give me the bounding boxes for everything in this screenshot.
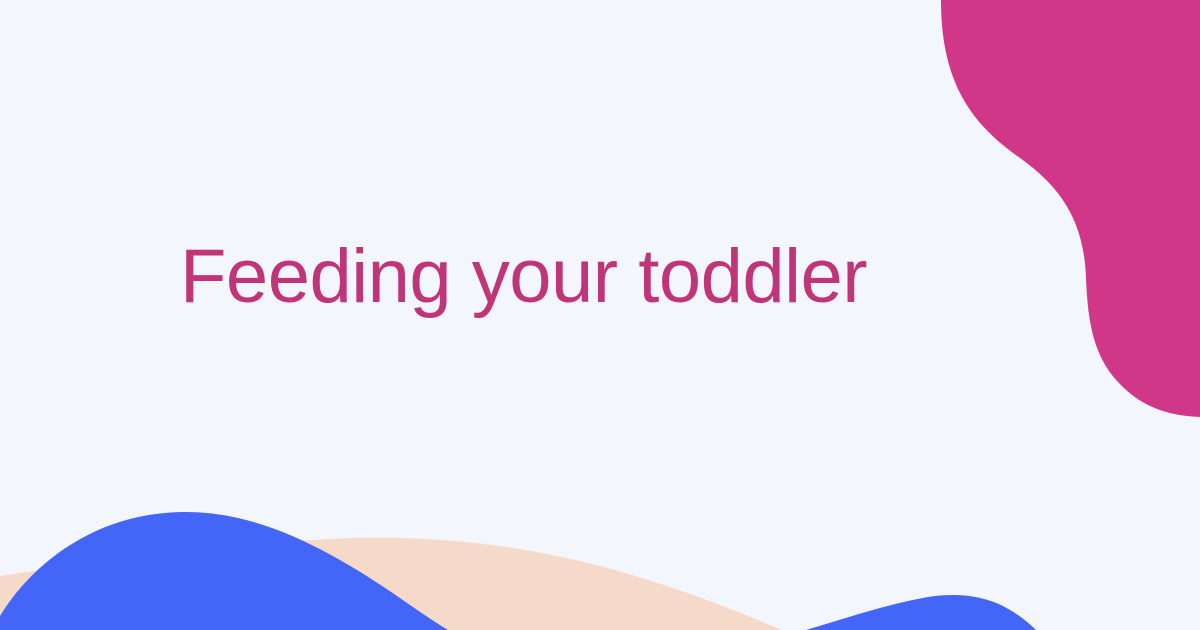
hero-banner: Feeding your toddler: [0, 0, 1200, 630]
decorative-background: [0, 0, 1200, 630]
